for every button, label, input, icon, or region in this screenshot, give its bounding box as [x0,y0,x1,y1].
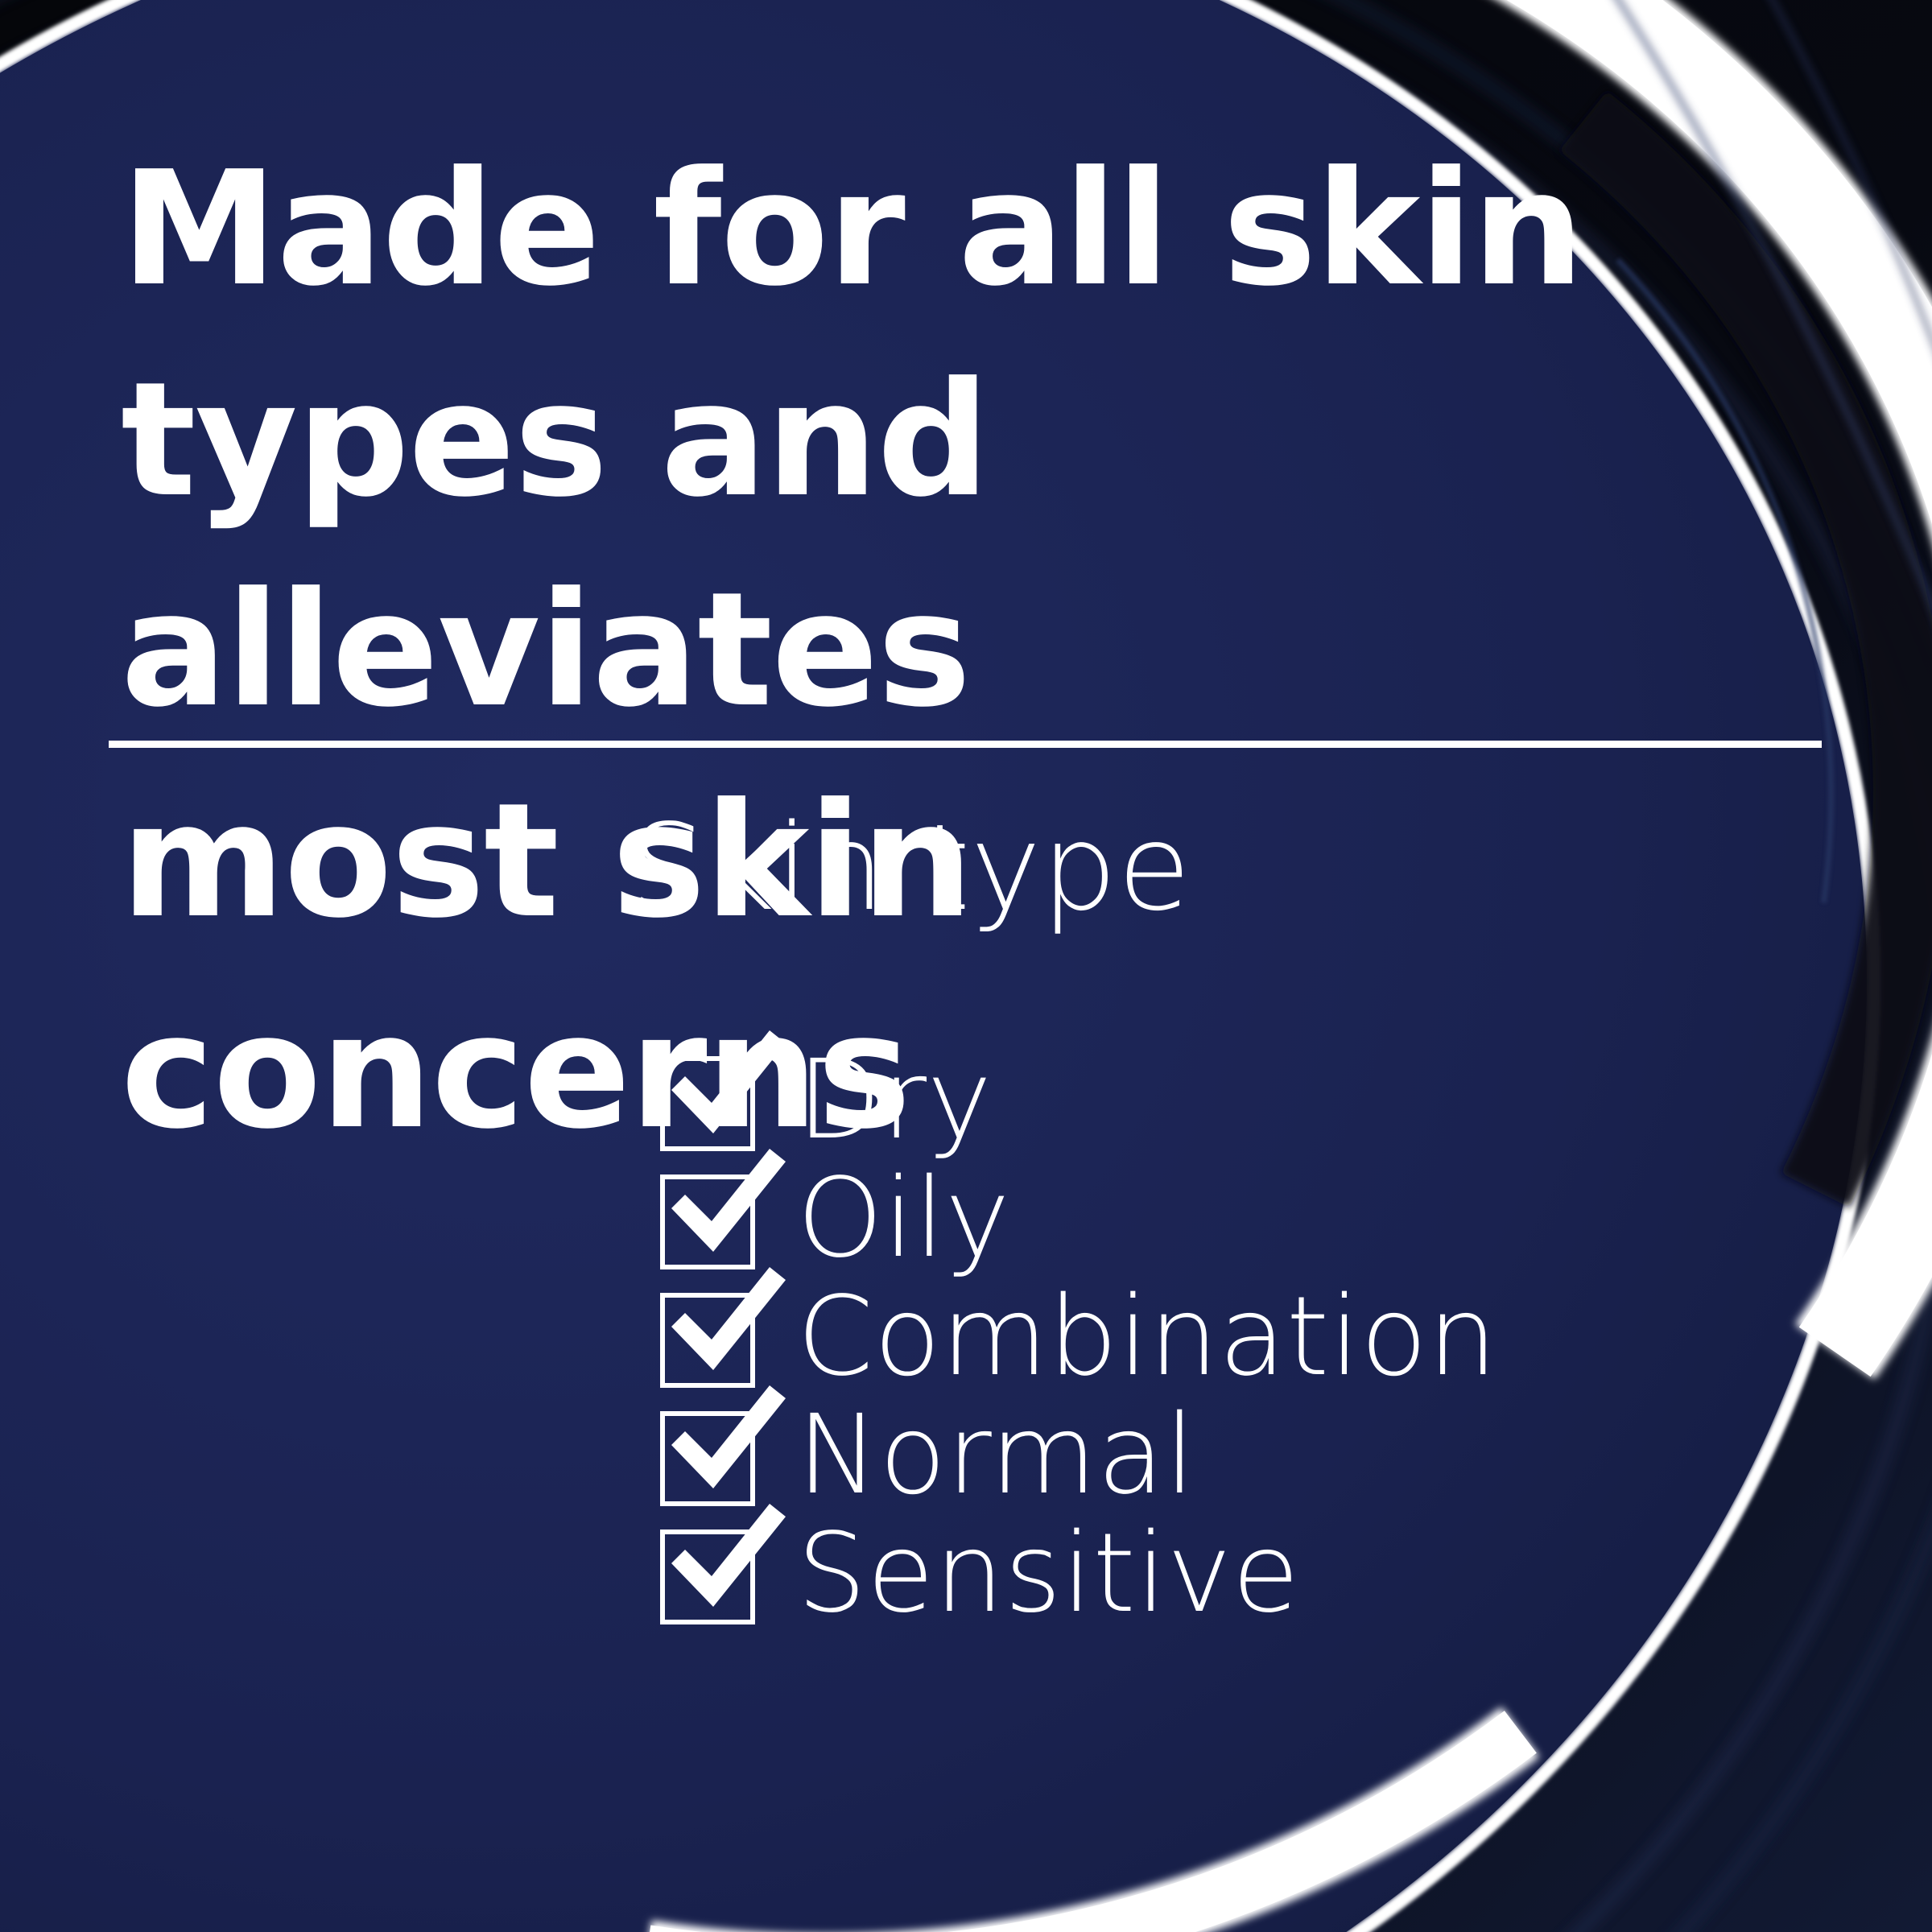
divider [109,741,1822,748]
list-item-label: Oily [797,1164,1010,1274]
list-item[interactable]: Sensitive [660,1514,1868,1633]
skin-type-checklist: Dry Oily [660,1041,1868,1633]
checkbox-checked-icon[interactable] [660,1529,755,1624]
list-item-label: Sensitive [797,1519,1300,1629]
page-title: Made for all skin types and alleviates m… [121,125,1779,1178]
list-item-label: Normal [797,1401,1195,1510]
section-title: Skin type [630,808,1191,927]
list-item-label: Combination [797,1282,1497,1392]
check-mark-icon [657,1489,802,1634]
list-item-label: Dry [797,1046,993,1155]
list-item[interactable]: Dry [660,1041,1868,1159]
list-item[interactable]: Combination [660,1278,1868,1396]
list-item[interactable]: Oily [660,1159,1868,1278]
promo-graphic: Made for all skin types and alleviates m… [0,0,1932,1932]
list-item[interactable]: Normal [660,1396,1868,1514]
